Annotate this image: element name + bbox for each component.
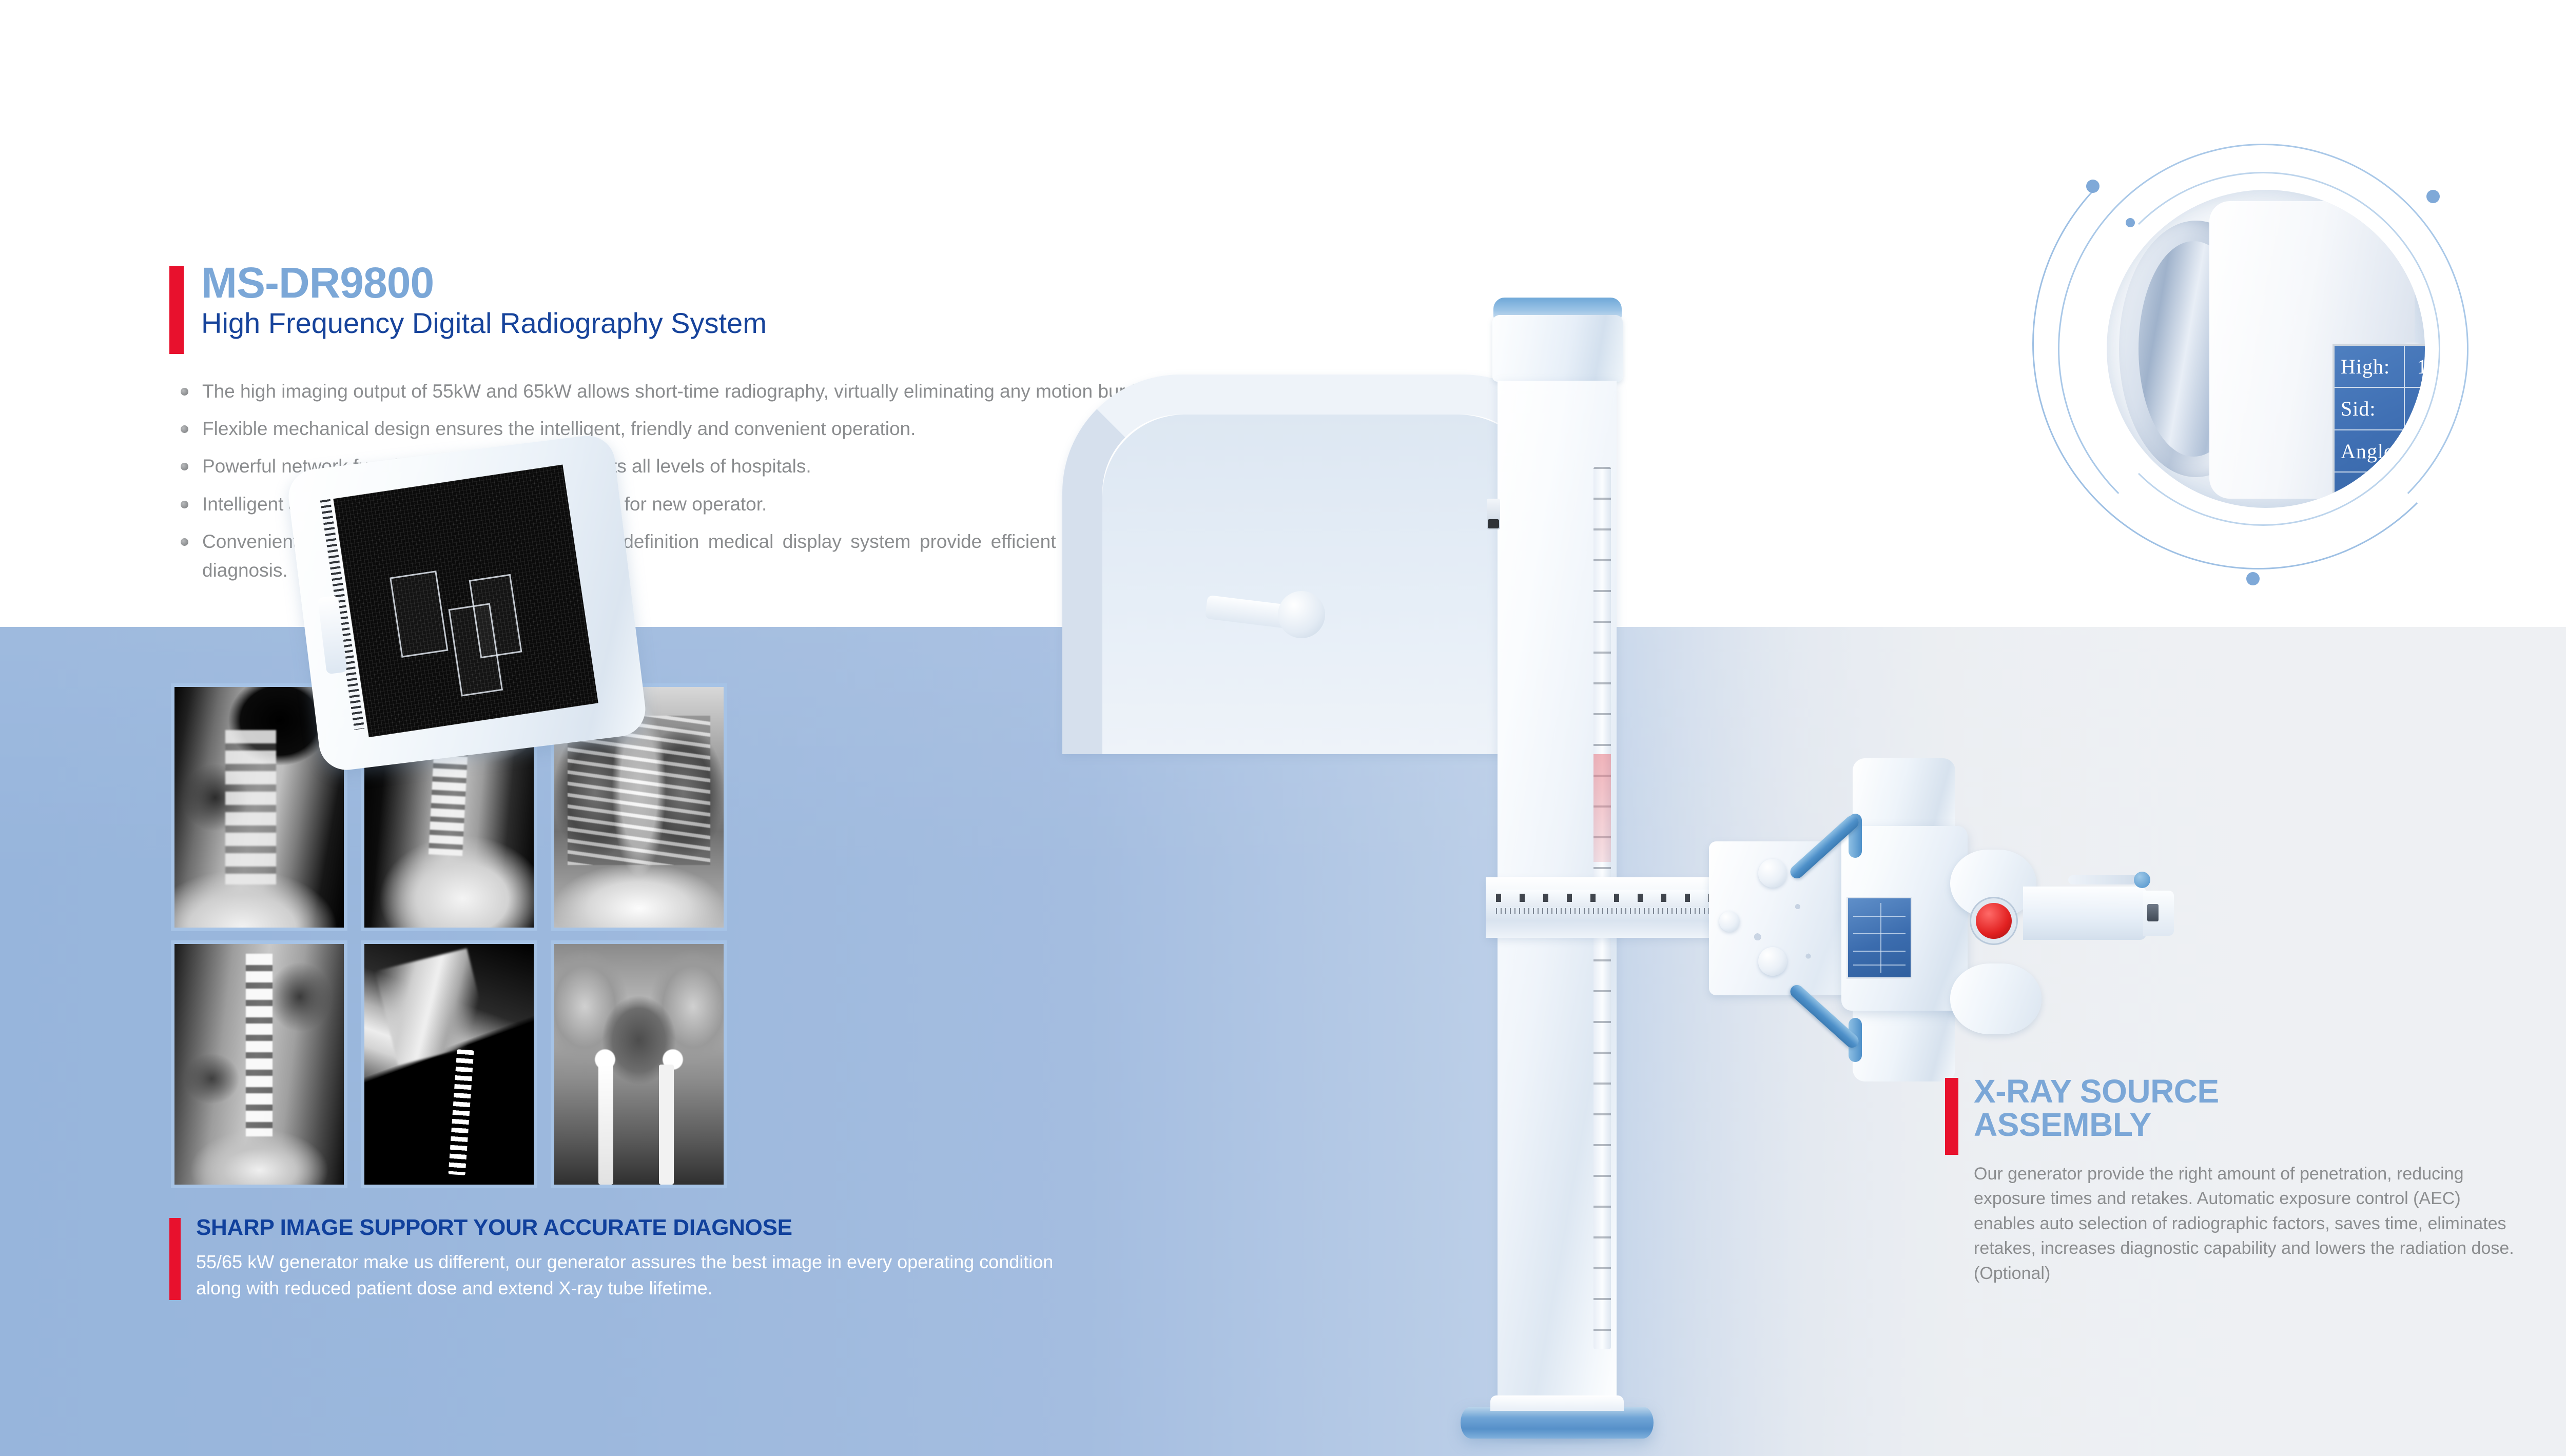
section-heading: X-RAY SOURCE ASSEMBLY: [1974, 1075, 2520, 1142]
list-item-text: Flexible mechanical design ensures the i…: [202, 418, 916, 439]
decorative-dot: [2126, 218, 2135, 227]
tube-locking-pin[interactable]: [2068, 875, 2145, 884]
swing-arm-inner: [1102, 415, 1541, 754]
poster-page: MS-DR9800 High Frequency Digital Radiogr…: [0, 0, 2566, 1456]
xray-image: [364, 944, 534, 1185]
collimator-lower: [1950, 963, 2042, 1034]
xray-image-gallery: [171, 683, 727, 1188]
xray-image: [554, 944, 724, 1185]
detector-grid-face: [333, 464, 598, 737]
bracket-detail: [1720, 852, 1854, 989]
bullet-dot-icon: [181, 463, 188, 470]
section-body: Our generator provide the right amount o…: [1974, 1162, 2520, 1286]
flat-panel-detector[interactable]: [285, 432, 648, 773]
decorative-dot: [2246, 572, 2260, 585]
table-bucky-icon[interactable]: ♁: [2335, 473, 2380, 507]
tube-lower-housing: [1853, 1005, 1955, 1081]
gallery-caption: SHARP IMAGE SUPPORT YOUR ACCURATE DIAGNO…: [169, 1216, 1073, 1301]
caption-heading: SHARP IMAGE SUPPORT YOUR ACCURATE DIAGNO…: [196, 1216, 1073, 1239]
lock-knob[interactable]: [1719, 911, 1740, 932]
lcd-value-sid: 1264: [2405, 388, 2425, 429]
emergency-stop-button[interactable]: [1976, 903, 2012, 939]
caption-body: 55/65 kW generator make us different, ou…: [196, 1249, 1073, 1301]
scale-red-zone: [1593, 754, 1611, 862]
bullet-dot-icon: [181, 501, 188, 508]
lcd-label-angle: Angle:: [2335, 430, 2405, 471]
console-inset-callout: High: 1618 Sid: 1264 Angle: 23.4° ♁ ♂ ♀: [1996, 95, 2540, 608]
console-photo: High: 1618 Sid: 1264 Angle: 23.4° ♁ ♂ ♀: [2107, 190, 2425, 508]
lcd-row-angle: Angle: 23.4°: [2335, 430, 2425, 473]
section-accent-bar: [1945, 1078, 1958, 1155]
lcd-row-sid: Sid: 1264: [2335, 388, 2425, 430]
adjust-knob[interactable]: [1758, 947, 1787, 976]
aec-chamber: [390, 570, 448, 658]
lcd-value-high: 1618: [2405, 346, 2425, 387]
section-heading-line2: ASSEMBLY: [1974, 1108, 2520, 1142]
tube-side-arm: [2023, 887, 2146, 940]
lcd-value-angle: 23.4°: [2405, 430, 2425, 471]
console-lcd-screen[interactable]: High: 1618 Sid: 1264 Angle: 23.4° ♁ ♂ ♀: [2332, 344, 2425, 508]
lcd-mode-row: ♁ ♂ ♀: [2335, 473, 2425, 508]
lcd-label-high: High:: [2335, 346, 2405, 387]
column-head: [1492, 315, 1623, 382]
lcd-label-sid: Sid:: [2335, 388, 2405, 429]
tube-lcd-screen[interactable]: [1846, 897, 1912, 979]
xray-image: [174, 944, 344, 1185]
chest-stand-icon[interactable]: ♂: [2380, 473, 2425, 507]
column-clip: [1487, 499, 1500, 529]
bullet-dot-icon: [181, 388, 188, 396]
decorative-dot: [2086, 180, 2100, 193]
adjust-knob[interactable]: [1758, 859, 1787, 888]
decorative-dot: [2426, 190, 2440, 203]
xray-thumbnail-pelvis-hips-ap[interactable]: [551, 940, 727, 1188]
x-ray-source-section: X-RAY SOURCE ASSEMBLY Our generator prov…: [1945, 1075, 2520, 1286]
title-accent-bar: [169, 266, 184, 354]
tube-upper-housing: [1853, 758, 1955, 836]
caption-accent-bar: [169, 1218, 181, 1300]
bullet-dot-icon: [181, 538, 188, 546]
section-heading-line1: X-RAY SOURCE: [1974, 1075, 2520, 1108]
column-base: [1461, 1407, 1654, 1439]
detector-hinge: [1278, 591, 1325, 638]
bullet-dot-icon: [181, 425, 188, 433]
xray-thumbnail-knee-leg-with-hardware[interactable]: [361, 940, 537, 1188]
lcd-row-high: High: 1618: [2335, 346, 2425, 388]
xray-thumbnail-lumbar-spine-ap[interactable]: [171, 940, 347, 1188]
tube-end-cap: [2143, 891, 2174, 936]
x-ray-tube-assembly: [1709, 749, 2078, 1129]
